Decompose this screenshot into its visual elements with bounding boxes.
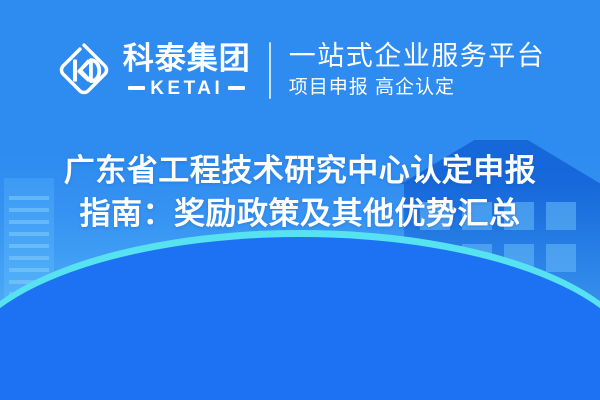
brand-name-cn: 科泰集团 [123,43,251,74]
promo-banner: 科泰集团 KETAI 一站式企业服务平台 项目申报 高企认定 广东省工程技术研究… [0,0,600,400]
ketai-kd-monogram-icon [55,41,113,99]
horizon-curve [0,230,600,400]
brand-tagline: 一站式企业服务平台 项目申报 高企认定 [289,41,546,99]
page-title: 广东省工程技术研究中心认定申报 指南：奖励政策及其他优势汇总 [0,150,600,236]
page-title-line-1: 广东省工程技术研究中心认定申报 [0,150,600,193]
header-divider [269,42,271,99]
wordmark-dash-right-icon [228,86,245,90]
tagline-secondary: 项目申报 高企认定 [289,77,546,98]
page-title-line-2: 指南：奖励政策及其他优势汇总 [0,193,600,236]
brand-name-en: KETAI [150,79,223,98]
brand-logo[interactable]: 科泰集团 KETAI [55,41,269,99]
banner-header: 科泰集团 KETAI 一站式企业服务平台 项目申报 高企认定 [0,0,600,140]
brand-name-en-row: KETAI [128,79,245,98]
wordmark-dash-left-icon [128,86,145,90]
tagline-primary: 一站式企业服务平台 [289,41,546,71]
brand-wordmark: 科泰集团 KETAI [123,43,251,98]
